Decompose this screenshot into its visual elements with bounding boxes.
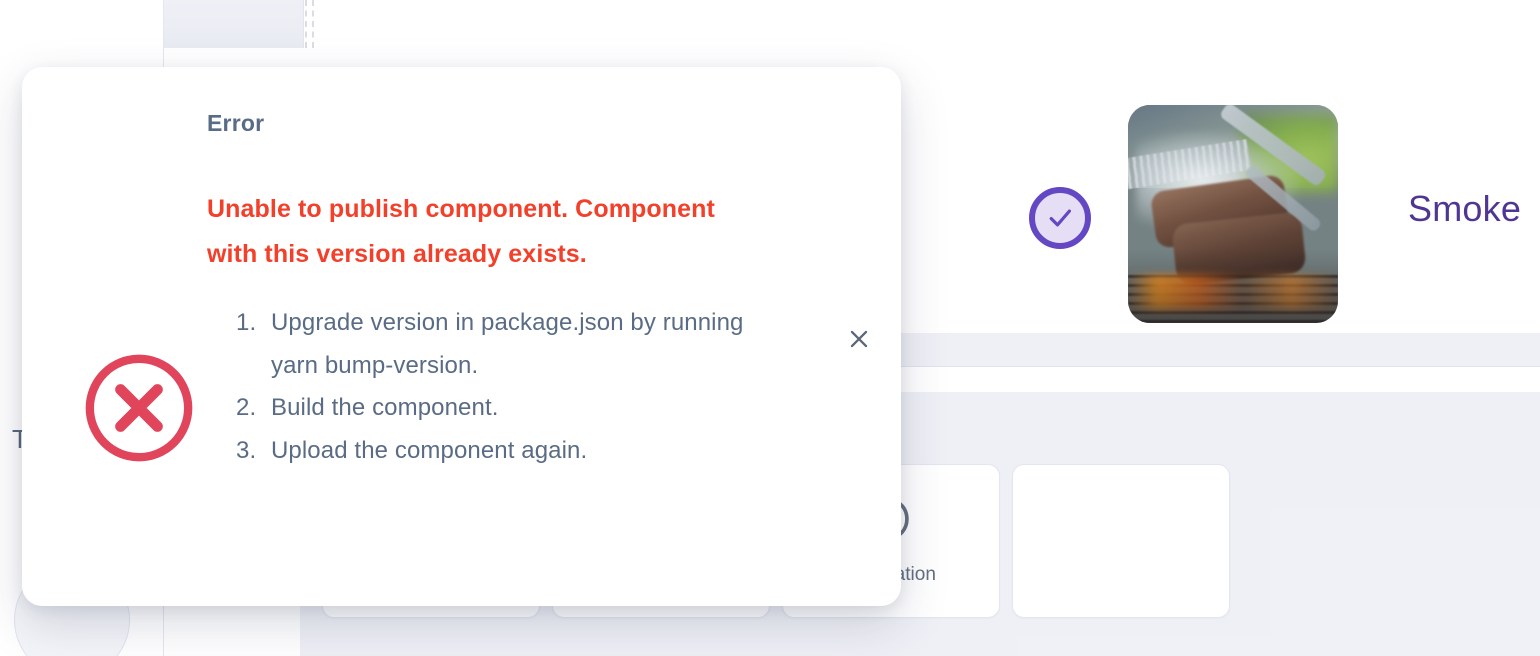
error-dialog: Error Unable to publish component. Compo…: [22, 67, 901, 606]
error-step-item: Upgrade version in package.json by runni…: [263, 302, 783, 387]
error-dialog-steps: Upgrade version in package.json by runni…: [263, 302, 783, 473]
close-icon[interactable]: [839, 319, 879, 359]
error-circle-x-icon: [70, 339, 208, 477]
error-step-item: Build the component.: [263, 387, 783, 430]
error-dialog-headline: Unable to publish component. Component w…: [207, 187, 763, 276]
error-dialog-body: Error Unable to publish component. Compo…: [207, 112, 807, 473]
error-step-item: Upload the component again.: [263, 430, 783, 473]
app-screen: T Smoke: [0, 0, 1540, 656]
error-dialog-title: Error: [207, 112, 807, 135]
